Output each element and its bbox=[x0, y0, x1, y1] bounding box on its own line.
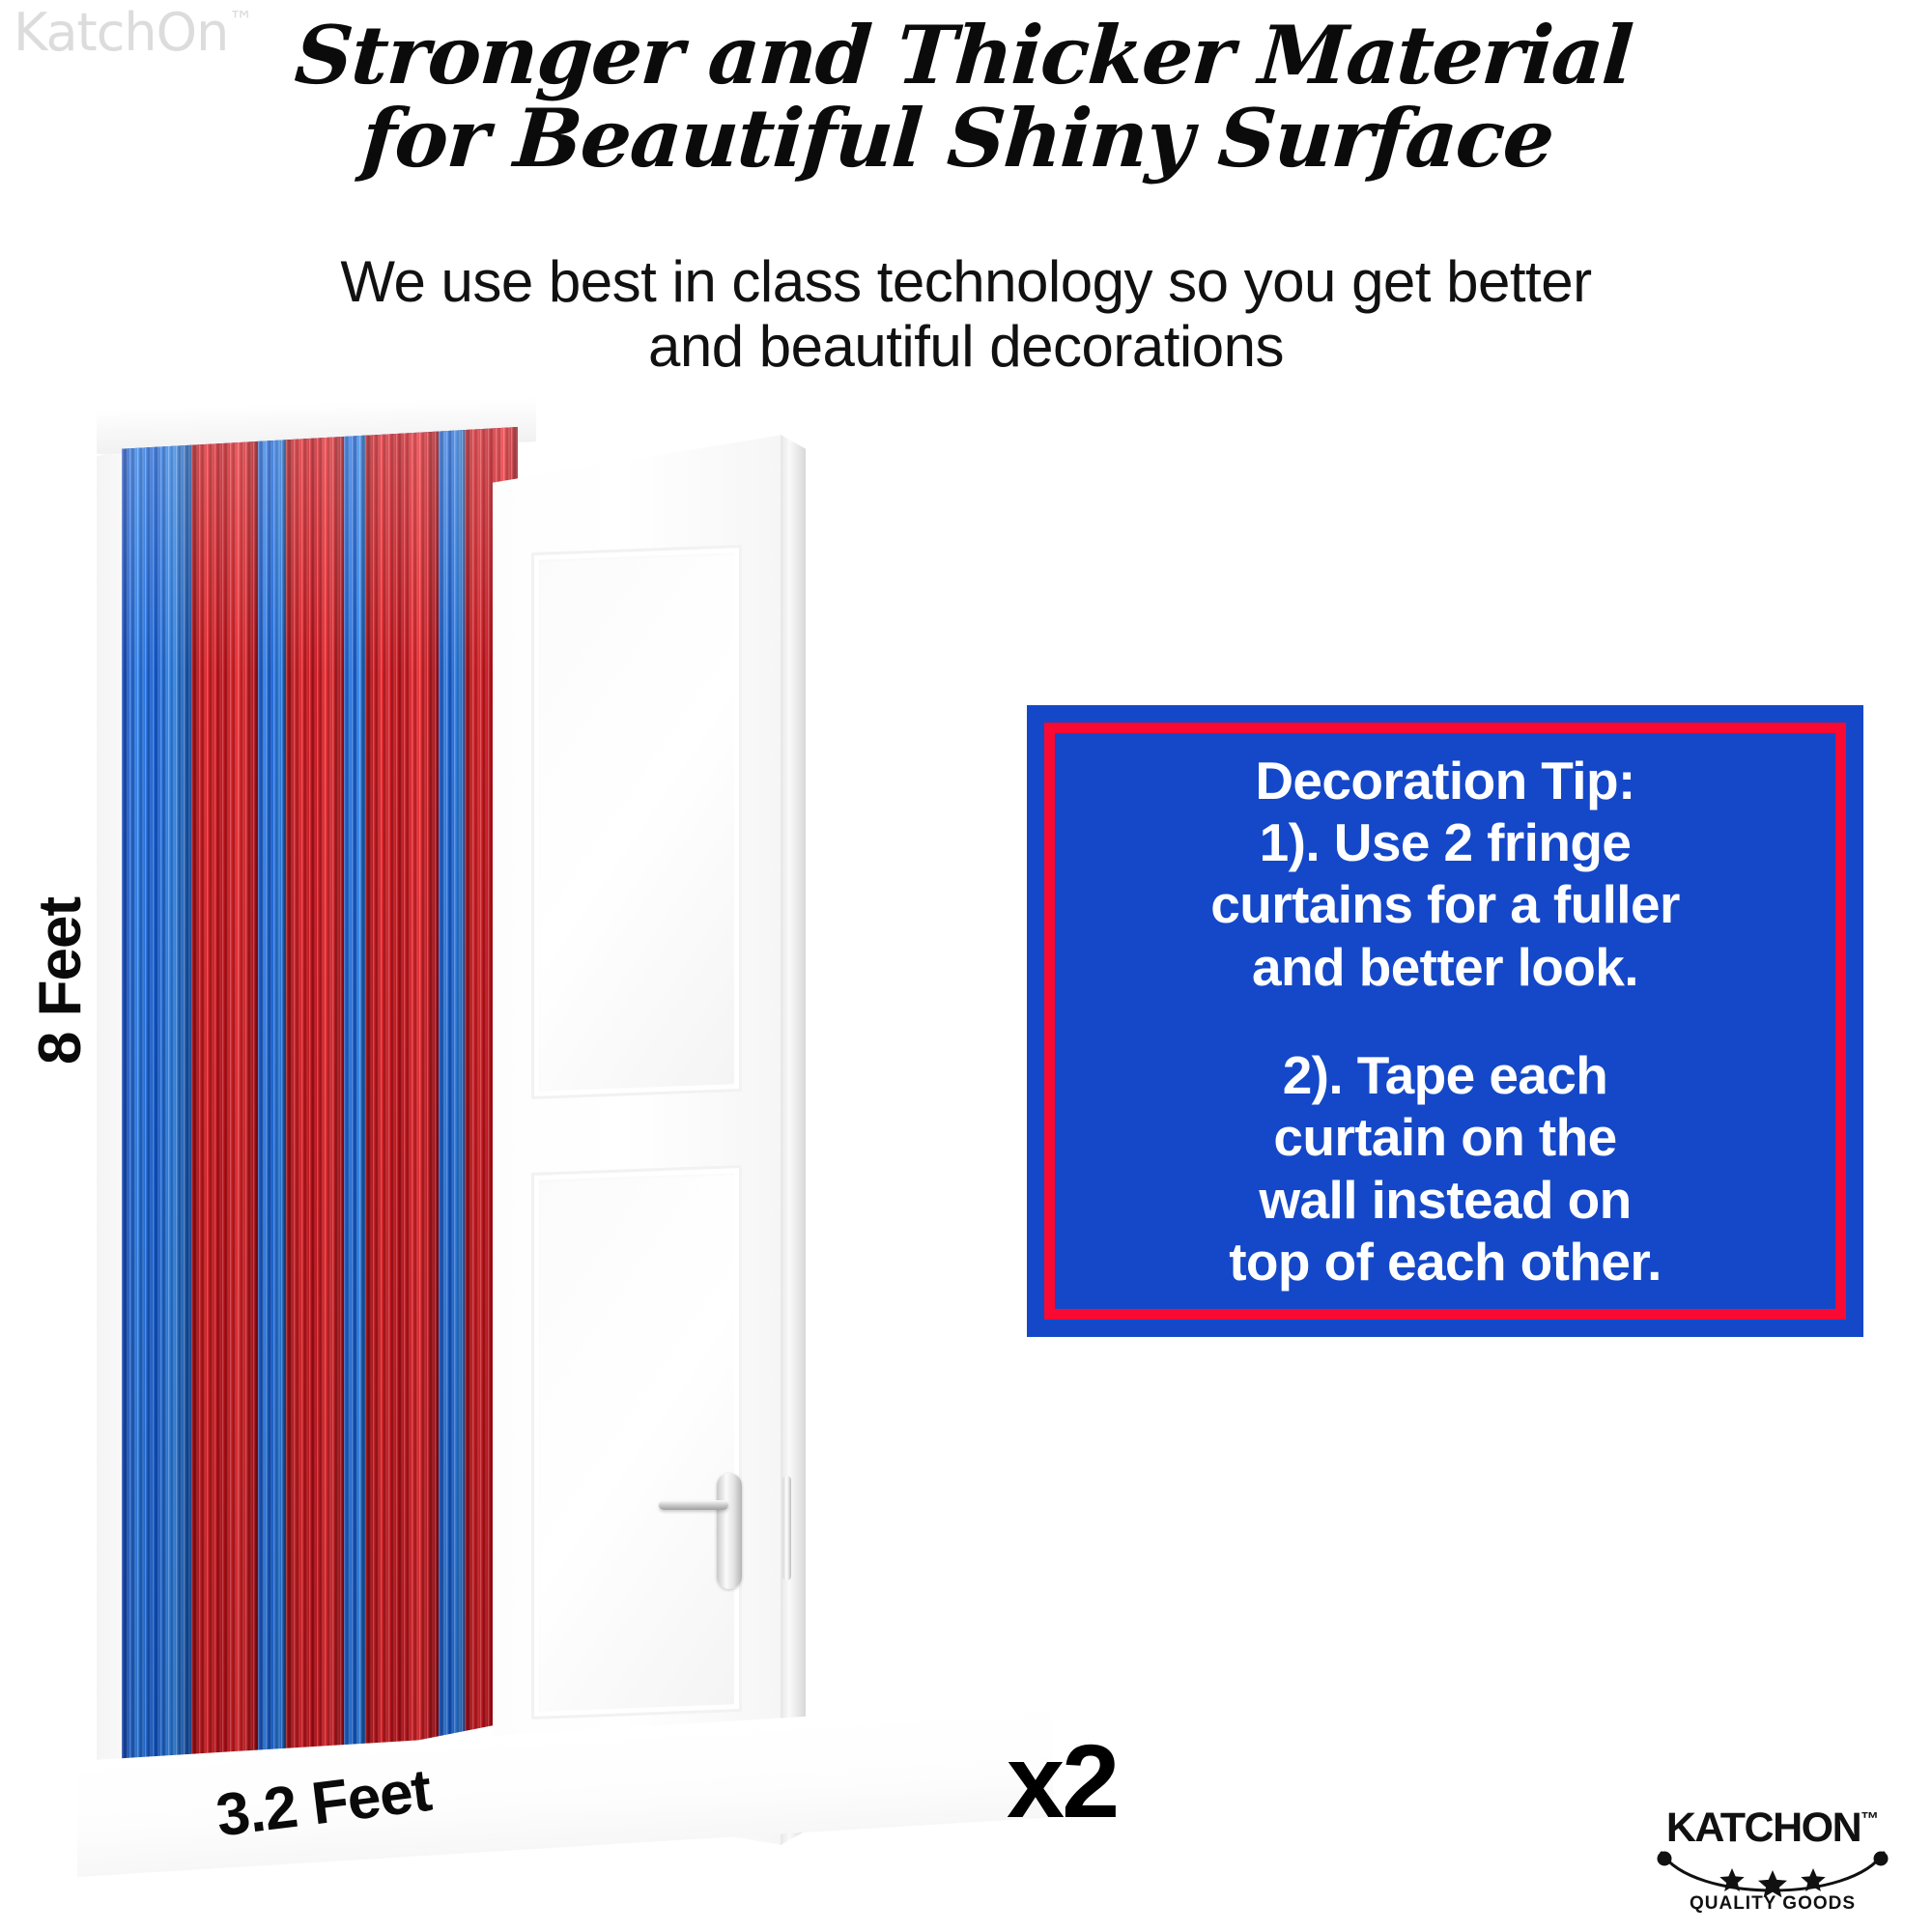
tip-2-line-2: curtain on the bbox=[1210, 1106, 1680, 1168]
tip-heading: Decoration Tip: bbox=[1210, 750, 1680, 811]
tip-2-line-1: 2). Tape each bbox=[1210, 1044, 1680, 1106]
headline: Stronger and Thicker Material for Beauti… bbox=[0, 17, 1932, 177]
logo-wordmark-text: KATCHON bbox=[1666, 1804, 1861, 1851]
door-handle-lever bbox=[659, 1500, 728, 1510]
height-dimension-label: 8 Feet bbox=[26, 897, 95, 1065]
logo-dot-right-icon bbox=[1874, 1852, 1889, 1866]
subheadline-line-1: We use best in class technology so you g… bbox=[0, 249, 1932, 314]
door-panel-top bbox=[531, 545, 742, 1099]
katchon-logo: KATCHON™ QUALITY GOODS bbox=[1642, 1804, 1903, 1922]
headline-line-1: Stronger and Thicker Material bbox=[0, 17, 1932, 95]
tip-1-line-2: curtains for a fuller bbox=[1210, 873, 1680, 935]
tip-1-line-1: 1). Use 2 fringe bbox=[1210, 811, 1680, 873]
fringe-stripe-blue bbox=[258, 427, 286, 1799]
fringe-stripe-blue bbox=[122, 427, 191, 1799]
logo-wordmark: KATCHON™ bbox=[1642, 1804, 1903, 1852]
logo-dot-left-icon bbox=[1658, 1852, 1672, 1866]
tip-2-line-4: top of each other. bbox=[1210, 1231, 1680, 1293]
decoration-tip-box: Decoration Tip: 1). Use 2 fringe curtain… bbox=[1027, 705, 1863, 1337]
fringe-curtain bbox=[122, 427, 518, 1799]
product-photo bbox=[77, 415, 1101, 1864]
tip-spacer bbox=[1210, 998, 1680, 1044]
tip-1-line-3: and better look. bbox=[1210, 936, 1680, 998]
headline-line-2: for Beautiful Shiny Surface bbox=[0, 100, 1926, 178]
fringe-stripe-blue bbox=[439, 427, 465, 1799]
logo-trademark-symbol: ™ bbox=[1861, 1809, 1879, 1830]
door-edge bbox=[781, 435, 806, 1845]
door-strike-plate bbox=[782, 1476, 791, 1580]
subheadline-line-2: and beautiful decorations bbox=[0, 314, 1932, 379]
logo-tagline: QUALITY GOODS bbox=[1642, 1893, 1903, 1915]
fringe-stripe-red bbox=[191, 427, 259, 1799]
door-handle-backplate bbox=[717, 1473, 742, 1589]
fringe-stripe-red bbox=[286, 427, 343, 1799]
fringe-stripe-red bbox=[365, 427, 439, 1799]
door bbox=[493, 435, 821, 1845]
quantity-badge: x2 bbox=[1007, 1729, 1117, 1833]
subheadline: We use best in class technology so you g… bbox=[0, 249, 1932, 379]
decoration-tip-inner-border: Decoration Tip: 1). Use 2 fringe curtain… bbox=[1044, 723, 1846, 1320]
door-panel-bottom bbox=[531, 1165, 742, 1719]
decoration-tip-text: Decoration Tip: 1). Use 2 fringe curtain… bbox=[1197, 750, 1693, 1293]
tip-2-line-3: wall instead on bbox=[1210, 1169, 1680, 1231]
fringe-stripe-blue bbox=[344, 427, 366, 1799]
